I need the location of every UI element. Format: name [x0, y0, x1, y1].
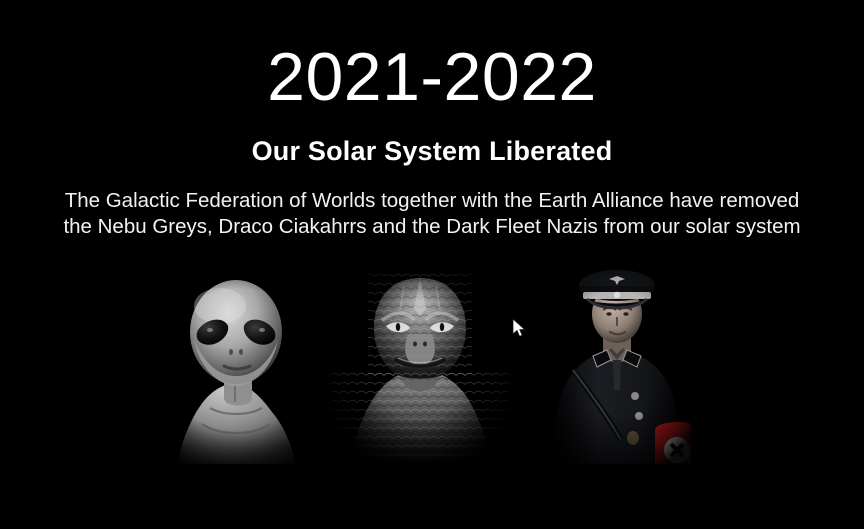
- grey-alien-photo: [140, 274, 336, 464]
- page-title: 2021-2022: [0, 42, 864, 113]
- slide-subtitle: Our Solar System Liberated: [0, 136, 864, 167]
- body-line-1: The Galactic Federation of Worlds togeth…: [0, 188, 864, 214]
- reptilian-alien-photo: [330, 272, 510, 462]
- body-line-2: the Nebu Greys, Draco Ciakahrrs and the …: [0, 214, 864, 240]
- figure-row: [0, 268, 864, 468]
- slide-body-text: The Galactic Federation of Worlds togeth…: [0, 188, 864, 240]
- reptilian-alien-illustration: [330, 272, 510, 462]
- slide-canvas: 2021-2022 Our Solar System Liberated The…: [0, 0, 864, 529]
- grey-alien-illustration: [140, 274, 336, 464]
- uniformed-officer-illustration: [543, 270, 692, 464]
- uniformed-officer-photo: [543, 270, 692, 464]
